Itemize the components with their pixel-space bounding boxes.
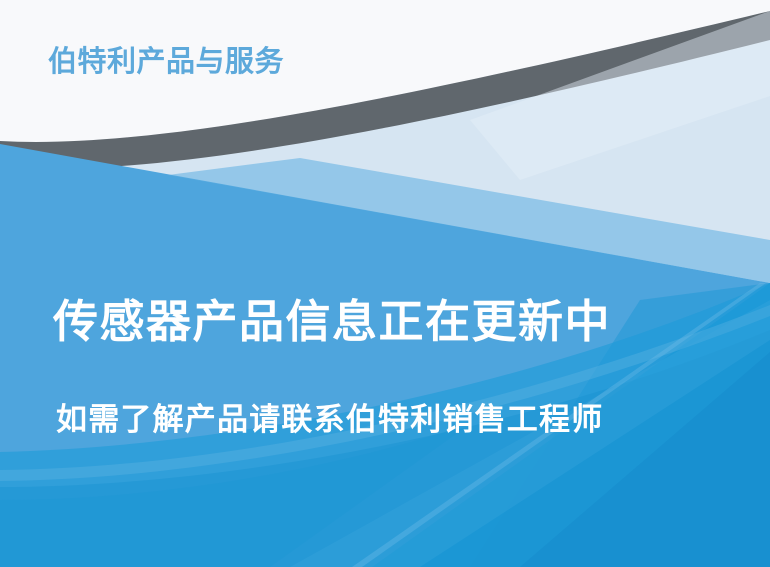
main-headline: 传感器产品信息正在更新中 xyxy=(53,299,611,344)
sub-headline: 如需了解产品请联系伯特利销售工程师 xyxy=(56,405,603,436)
brand-heading: 伯特利产品与服务 xyxy=(48,47,284,76)
product-service-banner: 伯特利产品与服务 传感器产品信息正在更新中 如需了解产品请联系伯特利销售工程师 xyxy=(0,0,770,567)
decorative-background xyxy=(0,0,770,567)
